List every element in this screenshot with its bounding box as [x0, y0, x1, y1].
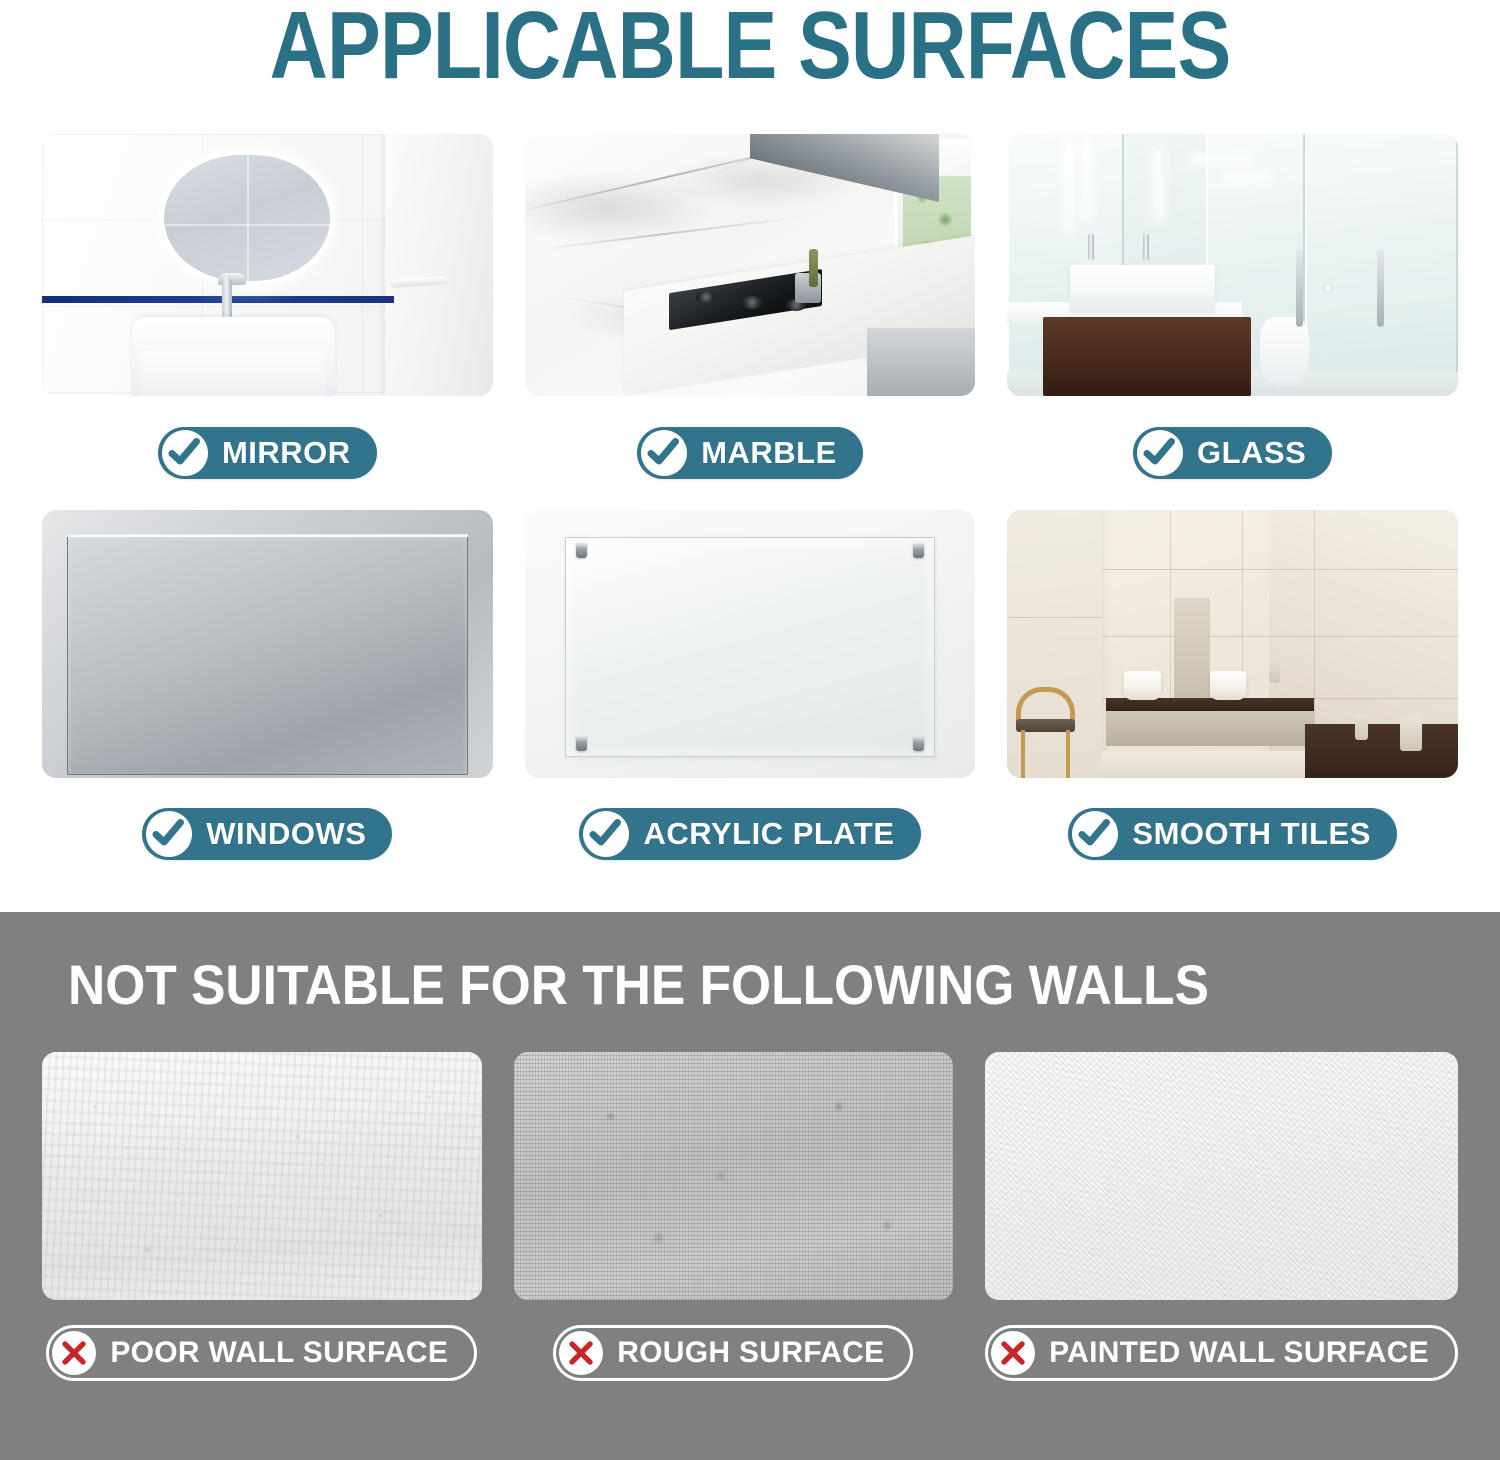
wall-panel — [385, 134, 493, 396]
badge-row: GLASS — [1007, 396, 1458, 510]
grout-line — [1102, 636, 1458, 637]
toilet — [1260, 317, 1310, 385]
unsuitable-badge-label: POOR WALL SURFACE — [110, 1336, 448, 1370]
surface-badge-acrylic-plate[interactable]: ACRYLIC PLATE — [579, 808, 920, 860]
standoff-screw — [576, 542, 587, 558]
badge-row: MARBLE — [525, 396, 976, 510]
shower-door-handle — [1377, 249, 1384, 327]
painted-stucco — [985, 1052, 1458, 1300]
bottle-accessory — [1355, 714, 1368, 740]
blue-accent-stripe — [42, 296, 394, 303]
surface-badge-label: WINDOWS — [206, 816, 366, 852]
surface-card-marble: MARBLE — [525, 134, 976, 510]
badge-row: POOR WALL SURFACE — [42, 1300, 482, 1406]
vessel-basin — [1210, 671, 1246, 700]
marble-kitchen-photo — [525, 134, 976, 396]
surface-card-glass: GLASS — [1007, 134, 1458, 510]
check-icon — [1072, 811, 1118, 857]
vessel-sink — [1070, 265, 1214, 310]
rough-concrete-texture — [514, 1052, 954, 1300]
badge-row: SMOOTH TILES — [1007, 778, 1458, 890]
ceiling-light — [1224, 176, 1270, 180]
unsuitable-card-rough-surface: ROUGH SURFACE — [514, 1052, 954, 1406]
window-glass — [67, 534, 468, 775]
unsuitable-badge-poor-wall[interactable]: POOR WALL SURFACE — [46, 1325, 477, 1381]
check-icon — [583, 811, 629, 857]
vanity-cabinet — [1106, 711, 1313, 746]
light-bar — [1084, 142, 1089, 221]
unsuitable-badge-label: ROUGH SURFACE — [617, 1336, 884, 1370]
section-title: NOT SUITABLE FOR THE FOLLOWING WALLS — [68, 954, 1209, 1016]
standoff-screw — [576, 735, 587, 751]
x-icon — [559, 1331, 603, 1375]
ceiling-light — [1192, 158, 1252, 162]
bottle — [809, 249, 818, 287]
grout-line — [1170, 510, 1171, 703]
grout-line — [1102, 569, 1458, 570]
applicable-surfaces-section: APPLICABLE SURFACES — [0, 0, 1500, 912]
vanity-drawer — [141, 351, 326, 396]
base-cabinet — [867, 328, 975, 396]
surface-badge-label: MARBLE — [701, 435, 837, 471]
x-icon — [991, 1331, 1035, 1375]
surface-card-acrylic-plate: ACRYLIC PLATE — [525, 510, 976, 890]
oval-led-mirror — [164, 155, 331, 281]
page-title: APPLICABLE SURFACES — [120, 0, 1380, 100]
rough-concrete — [514, 1052, 954, 1300]
painted-stucco-texture — [985, 1052, 1458, 1300]
vessel-basin — [1124, 671, 1160, 700]
clear-acrylic-sheet — [565, 537, 935, 757]
badge-row: PAINTED WALL SURFACE — [985, 1300, 1458, 1406]
acrylic-plate-photo — [525, 510, 976, 778]
surface-card-smooth-tiles: SMOOTH TILES — [1007, 510, 1458, 890]
unsuitable-badge-label: PAINTED WALL SURFACE — [1049, 1336, 1429, 1370]
smooth-tiled-bathroom-photo — [1007, 510, 1458, 778]
surface-badge-windows[interactable]: WINDOWS — [142, 808, 392, 860]
badge-row: ACRYLIC PLATE — [525, 778, 976, 890]
check-icon — [1137, 430, 1183, 476]
surface-badge-smooth-tiles[interactable]: SMOOTH TILES — [1068, 808, 1397, 860]
light-bar — [1156, 150, 1161, 218]
glass-shower-bathroom-photo — [1007, 134, 1458, 396]
poor-wall-texture — [42, 1052, 482, 1300]
badge-row: MIRROR — [42, 396, 493, 510]
surface-badge-label: MIRROR — [222, 435, 351, 471]
surface-badge-label: SMOOTH TILES — [1132, 816, 1371, 852]
badge-row: ROUGH SURFACE — [514, 1300, 954, 1406]
surface-badge-label: GLASS — [1197, 435, 1306, 471]
surface-badge-glass[interactable]: GLASS — [1133, 427, 1332, 479]
standoff-screw — [913, 735, 924, 751]
surface-card-mirror: MIRROR — [42, 134, 493, 510]
frame-highlight — [67, 534, 468, 537]
shower-door-handle — [1296, 249, 1303, 327]
badge-row: WINDOWS — [42, 778, 493, 890]
check-icon — [641, 430, 687, 476]
unsuitable-badge-rough-surface[interactable]: ROUGH SURFACE — [553, 1325, 913, 1381]
weathered-concrete — [42, 1052, 482, 1300]
faucet — [1143, 234, 1149, 260]
x-icon — [52, 1331, 96, 1375]
unsuitable-badge-painted-wall[interactable]: PAINTED WALL SURFACE — [985, 1325, 1458, 1381]
bottle-accessory — [1400, 717, 1422, 751]
applicable-surfaces-grid: MIRROR — [42, 134, 1458, 890]
check-icon — [162, 430, 208, 476]
console-table — [1305, 724, 1458, 778]
chair-leg — [1066, 730, 1070, 778]
metal-framed-window-photo — [42, 510, 493, 778]
check-icon — [146, 811, 192, 857]
light-bar — [1066, 142, 1071, 231]
wood-vanity-cabinet — [1043, 317, 1250, 396]
not-suitable-section: NOT SUITABLE FOR THE FOLLOWING WALLS POO… — [0, 912, 1500, 1460]
vase — [1269, 657, 1280, 683]
chair-leg — [1021, 730, 1025, 778]
surface-badge-mirror[interactable]: MIRROR — [158, 427, 377, 479]
surface-card-windows: WINDOWS — [42, 510, 493, 890]
unsuitable-card-poor-wall: POOR WALL SURFACE — [42, 1052, 482, 1406]
standoff-screw — [913, 542, 924, 558]
applicable-surfaces-infographic: APPLICABLE SURFACES — [0, 0, 1500, 1460]
surface-badge-marble[interactable]: MARBLE — [637, 427, 863, 479]
surface-badge-label: ACRYLIC PLATE — [643, 816, 894, 852]
wall-niche — [1174, 598, 1210, 700]
bathroom-mirror-photo — [42, 134, 493, 396]
not-suitable-grid: POOR WALL SURFACE ROUGH — [42, 1052, 1458, 1406]
faucet — [1088, 234, 1094, 260]
unsuitable-card-painted-wall: PAINTED WALL SURFACE — [985, 1052, 1458, 1406]
grout-line — [1007, 617, 1102, 618]
